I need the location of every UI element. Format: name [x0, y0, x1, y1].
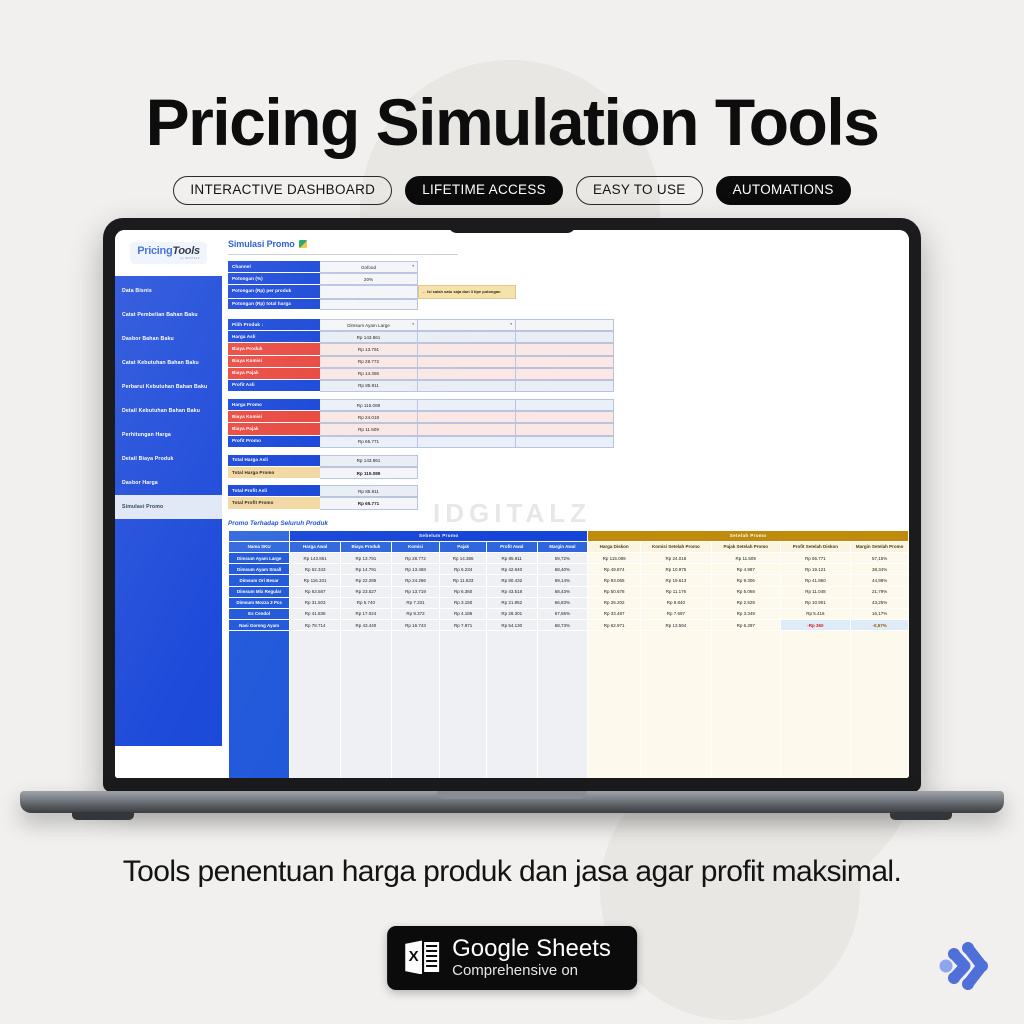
empty-cell-a — [418, 331, 516, 343]
row-label: Biaya Komisi — [228, 411, 320, 423]
badge-subtitle: Comprehensive on — [452, 963, 611, 979]
cell-before: Rp 42.640 — [486, 564, 537, 575]
cell-after: Rp 11.176 — [641, 586, 712, 597]
sheet-row: Profit PromoRp 65.771 — [228, 436, 909, 448]
row-label: Profit Promo — [228, 436, 320, 448]
laptop-foot-right — [890, 812, 952, 820]
sheet-row: Total Harga AsliRp 143.861 — [228, 455, 909, 467]
tagline: Tools penentuan harga produk dan jasa ag… — [0, 855, 1024, 889]
cell-before: Rp 62.343 — [290, 564, 341, 575]
row-label: Potongan (Rp) total harga — [228, 299, 320, 310]
spreadsheet-icon-x: X — [405, 940, 422, 974]
cell-after: Rp 11.048 — [780, 586, 851, 597]
cell-before: 66,83% — [537, 597, 588, 608]
cell-after: Rp 33.487 — [588, 608, 641, 619]
row-label: Biaya Pajak — [228, 368, 320, 380]
sidebar-item-perbarui-kebutuhan-bahan-baku[interactable]: Perbarui Kebutuhan Bahan Baku — [115, 375, 222, 399]
brand-corner-logo — [932, 930, 1004, 1002]
row-sku: Dimsum Mozza 3 Pcs — [229, 597, 290, 608]
feature-pill-2[interactable]: EASY TO USE — [576, 176, 703, 205]
sidebar-item-perhitungan-harga[interactable]: Perhitungan Harga — [115, 423, 222, 447]
brand-name-second: Tools — [172, 245, 199, 257]
empty-cell-b — [516, 399, 614, 411]
sheet-row: Biaya ProdukRp 13.791 — [228, 343, 909, 355]
product-picker-row: Pilih Produk ↓Dimsum Ayam Large▾▾ — [228, 319, 909, 331]
cell-after: -0,57% — [851, 620, 909, 631]
cell-before: Rp 6.360 — [440, 586, 487, 597]
empty-cell — [290, 631, 341, 778]
cell-before: Rp 80.432 — [486, 575, 537, 586]
col-header-1[interactable]: Harga Awal — [290, 541, 341, 552]
sidebar-item-data-bisnis[interactable]: Data Bisnis — [115, 279, 222, 303]
laptop-foot-left — [72, 812, 134, 820]
cell-before: Rp 41.836 — [290, 608, 341, 619]
cell-before: Rp 11.633 — [440, 575, 487, 586]
empty-cell-a — [418, 356, 516, 368]
empty-cell — [537, 631, 588, 778]
row-value: Rp 115.089 — [320, 399, 418, 411]
cell-after: Rp 65.771 — [780, 552, 851, 563]
promo-panel: Harga PromoRp 115.089Biaya KomisiRp 24.0… — [228, 399, 909, 448]
row-label: Total Harga Promo — [228, 467, 320, 479]
col-header-10[interactable]: Profit Setelah Diskon — [780, 541, 851, 552]
cell-after: Rp 5.068 — [711, 586, 780, 597]
cell-before: Rp 28.301 — [486, 608, 537, 619]
sheet-title-text: Simulasi Promo — [228, 239, 295, 249]
cell-before: Rp 143.861 — [290, 552, 341, 563]
spreadsheet-icon: X — [405, 938, 439, 976]
sidebar-item-dasbor-harga[interactable]: Dasbor Harga — [115, 471, 222, 495]
sidebar-item-catat-pembelian-bahan-baku[interactable]: Catat Pembelian Bahan Baku — [115, 303, 222, 327]
laptop-screen: IDGITALZ PricingTools by IDGITALZ Data B… — [115, 230, 909, 778]
header: Pricing Simulation Tools INTERACTIVE DAS… — [0, 0, 1024, 205]
empty-cell — [440, 631, 487, 778]
empty-cell-b — [516, 343, 614, 355]
row-label: Potongan (Rp) per produk — [228, 285, 320, 298]
empty-cell-a — [418, 368, 516, 380]
empty-cell-a — [418, 411, 516, 423]
input-panel: ChannelGofood▾Potongan (%)20%Potongan (R… — [228, 261, 909, 310]
cell-before: 69,14% — [537, 575, 588, 586]
feature-pill-0[interactable]: INTERACTIVE DASHBOARD — [173, 176, 392, 205]
table-header-row: Nama SKUHarga AwalBiaya ProdukKomisiPaja… — [229, 541, 909, 552]
row-label: Harga Promo — [228, 399, 320, 411]
totals-profit-panel: Total Profit AsliRp 85.911Total Profit P… — [228, 485, 909, 509]
sidebar-item-detail-biaya-produk[interactable]: Detail Biaya Produk — [115, 447, 222, 471]
row-label: Harga Asli — [228, 331, 320, 343]
table-row: Es CendolRp 41.836Rp 17.024Rp 9.372Rp 4.… — [229, 608, 909, 619]
cell-before: Rp 6.234 — [440, 564, 487, 575]
cell-before: Rp 5.740 — [340, 597, 391, 608]
cell-before: Rp 13.791 — [340, 552, 391, 563]
empty-cell-b — [516, 436, 614, 448]
row-label: Biaya Komisi — [228, 356, 320, 368]
product-panel: Pilih Produk ↓Dimsum Ayam Large▾▾Harga A… — [228, 319, 909, 392]
cell-after: Rp 13.594 — [641, 620, 712, 631]
sheet-row: Total Profit AsliRp 85.911 — [228, 485, 909, 497]
cell-before: Rp 23.527 — [340, 586, 391, 597]
feature-pill-1[interactable]: LIFETIME ACCESS — [405, 176, 563, 205]
product-picker-select-2[interactable]: ▾ — [418, 319, 516, 331]
sheet-row: Potongan (%)20% — [228, 273, 909, 285]
empty-cell-b — [516, 368, 614, 380]
row-sku: Dimsum Ayam Large — [229, 552, 290, 563]
cell-before: Rp 14.386 — [440, 552, 487, 563]
col-header-0[interactable]: Nama SKU — [229, 541, 290, 552]
cell-after: Rp 5.416 — [780, 608, 851, 619]
row-value: Rp 28.772 — [320, 356, 418, 368]
sheet-row: Harga PromoRp 115.089 — [228, 399, 909, 411]
cell-before: Rp 85.911 — [486, 552, 537, 563]
cell-after: Rp 2.529 — [711, 597, 780, 608]
spreadsheet-app: IDGITALZ PricingTools by IDGITALZ Data B… — [115, 230, 909, 778]
row-value: Rp 24.018 — [320, 411, 418, 423]
empty-cell — [391, 631, 440, 778]
cell-before: Rp 13.468 — [391, 564, 440, 575]
cell-before: Rp 14.791 — [340, 564, 391, 575]
chevron-down-icon: ▾ — [412, 322, 414, 326]
cell-after: Rp 3.349 — [711, 608, 780, 619]
cell-before: Rp 3.150 — [440, 597, 487, 608]
sheet-row: Harga AsliRp 143.861 — [228, 331, 909, 343]
empty-cell-b — [516, 423, 614, 435]
sheet-row: Biaya KomisiRp 24.018 — [228, 411, 909, 423]
cell-before: Rp 22.285 — [340, 575, 391, 586]
cell-after: 38,34% — [851, 564, 909, 575]
sidebar-item-detail-kebutuhan-bahan-baku[interactable]: Detail Kebutuhan Bahan Baku — [115, 399, 222, 423]
chevron-down-icon: ▾ — [510, 322, 512, 326]
cell-after: Rp 19.121 — [780, 564, 851, 575]
sheet-icon — [299, 240, 307, 248]
cell-after: Rp 10.901 — [780, 597, 851, 608]
cell-after: Rp 4.987 — [711, 564, 780, 575]
cell-before: Rp 43.518 — [486, 586, 537, 597]
sheet-row: ChannelGofood▾ — [228, 261, 909, 273]
cell-after: Rp 19.613 — [641, 575, 712, 586]
row-value: Rp 143.861 — [320, 455, 418, 467]
laptop-base-wrap — [0, 791, 1024, 813]
table-row: Nasi Goreng AyamRp 78.714Rp 43.440Rp 16.… — [229, 620, 909, 631]
row-label: Channel — [228, 261, 320, 273]
row-value: Rp 11.509 — [320, 423, 418, 435]
col-header-4[interactable]: Pajak — [440, 541, 487, 552]
table-group-header-row: Sebelum PromoSetelah Promo — [229, 530, 909, 541]
col-header-5[interactable]: Profit Awal — [486, 541, 537, 552]
table-filler-row — [229, 631, 909, 778]
row-value: Rp 65.771 — [320, 436, 418, 448]
empty-cell-a — [418, 423, 516, 435]
row-value: Rp 143.861 — [320, 331, 418, 343]
empty-cell — [780, 631, 851, 778]
empty-cell — [711, 631, 780, 778]
cell-after: Rp 62.971 — [588, 620, 641, 631]
cell-after: 16,17% — [851, 608, 909, 619]
feature-pill-row: INTERACTIVE DASHBOARDLIFETIME ACCESSEASY… — [0, 176, 1024, 205]
empty-cell-a — [418, 436, 516, 448]
empty-cell-b — [516, 411, 614, 423]
cell-before: Rp 31.503 — [290, 597, 341, 608]
app-sidebar: PricingTools by IDGITALZ Data BisnisCata… — [115, 230, 222, 778]
row-value[interactable]: 20% — [320, 273, 418, 285]
cell-before: Rp 43.440 — [340, 620, 391, 631]
group-after-promo: Setelah Promo — [588, 530, 909, 541]
cell-before: 68,43% — [537, 586, 588, 597]
row-sku: Dimsum Mix Regular — [229, 586, 290, 597]
row-label: Biaya Produk — [228, 343, 320, 355]
laptop-notch — [448, 218, 576, 233]
row-label: Potongan (%) — [228, 273, 320, 285]
group-spacer — [229, 530, 290, 541]
row-sku: Dimsum Ori Besar — [229, 575, 290, 586]
cell-after: Rp 49.874 — [588, 564, 641, 575]
cell-after: 44,98% — [851, 575, 909, 586]
feature-pill-3[interactable]: AUTOMATIONS — [716, 176, 851, 205]
empty-cell-a — [418, 399, 516, 411]
row-sku: Es Cendol — [229, 608, 290, 619]
title-divider — [228, 254, 458, 255]
empty-cell — [588, 631, 641, 778]
cell-after: Rp 6.297 — [711, 620, 780, 631]
col-header-3[interactable]: Komisi — [391, 541, 440, 552]
cell-after: -Rp 360 — [780, 620, 851, 631]
chevron-down-icon: ▾ — [412, 264, 414, 268]
cell-after: Rp 115.089 — [588, 552, 641, 563]
row-label: Biaya Pajak — [228, 423, 320, 435]
cell-after: 43,25% — [851, 597, 909, 608]
sheet-row: Profit AsliRp 85.911 — [228, 380, 909, 392]
sheet-row: Biaya PajakRp 11.509 — [228, 423, 909, 435]
laptop-base-notch — [437, 791, 587, 799]
cell-after: Rp 50.678 — [588, 586, 641, 597]
row-value[interactable] — [320, 285, 418, 298]
cell-before: Rp 21.852 — [486, 597, 537, 608]
input-hint-note: ← Isi salah satu saja dari 3 tipe potong… — [418, 285, 516, 298]
col-header-9[interactable]: Pajak Setelah Promo — [711, 541, 780, 552]
page-title: Pricing Simulation Tools — [0, 84, 1024, 160]
row-value: Rp 14.386 — [320, 368, 418, 380]
empty-cell-a — [418, 380, 516, 392]
row-value: Rp 115.089 — [320, 467, 418, 479]
brand-tagline: by IDGITALZ — [137, 258, 200, 261]
product-picker-label: Pilih Produk ↓ — [228, 319, 320, 331]
empty-cell-b — [516, 331, 614, 343]
col-header-2[interactable]: Biaya Produk — [340, 541, 391, 552]
row-label: Total Profit Promo — [228, 497, 320, 509]
empty-cell-b — [516, 356, 614, 368]
table-title: Promo Terhadap Seluruh Produk — [228, 520, 909, 527]
row-label: Profit Asli — [228, 380, 320, 392]
totals-price-panel: Total Harga AsliRp 143.861Total Harga Pr… — [228, 455, 909, 479]
cell-before: Rp 28.772 — [391, 552, 440, 563]
laptop-base — [20, 791, 1004, 813]
row-value: Rp 85.911 — [320, 380, 418, 392]
cell-before: Rp 24.266 — [391, 575, 440, 586]
col-header-8[interactable]: Komisi Setelah Promo — [641, 541, 712, 552]
product-picker-select-3[interactable] — [516, 319, 614, 331]
sidebar-item-catat-kebutuhan-bahan-baku[interactable]: Catat Kebutuhan Bahan Baku — [115, 351, 222, 375]
table-row: Dimsum Ayam SmallRp 62.343Rp 14.791Rp 13… — [229, 564, 909, 575]
cell-after: Rp 11.509 — [711, 552, 780, 563]
row-value: Rp 65.771 — [320, 497, 418, 509]
empty-cell — [851, 631, 909, 778]
empty-cell — [486, 631, 537, 778]
brand-logo: PricingTools by IDGITALZ — [115, 230, 222, 276]
group-before-promo: Sebelum Promo — [290, 530, 588, 541]
cell-before: 68,73% — [537, 620, 588, 631]
badge-text: Google Sheets Comprehensive on — [452, 936, 611, 979]
cell-before: Rp 116.331 — [290, 575, 341, 586]
google-sheets-badge: X Google Sheets Comprehensive on — [387, 926, 637, 990]
laptop-lid: IDGITALZ PricingTools by IDGITALZ Data B… — [103, 218, 921, 792]
cell-before: Rp 17.024 — [340, 608, 391, 619]
row-sku: Nasi Goreng Ayam — [229, 620, 290, 631]
cell-after: Rp 24.018 — [641, 552, 712, 563]
sheet-row: Potongan (Rp) total harga — [228, 299, 909, 310]
cell-after: Rp 9.306 — [711, 575, 780, 586]
brand-logo-box: PricingTools by IDGITALZ — [130, 242, 207, 265]
row-label: Total Profit Asli — [228, 485, 320, 497]
row-value: Rp 13.791 — [320, 343, 418, 355]
cell-after: 21,79% — [851, 586, 909, 597]
cell-after: Rp 7.697 — [641, 608, 712, 619]
cell-after: Rp 25.202 — [588, 597, 641, 608]
cell-after: Rp 10.975 — [641, 564, 712, 575]
col-header-6[interactable]: Margin Awal — [537, 541, 588, 552]
empty-cell — [229, 631, 290, 778]
cell-before: Rp 63.587 — [290, 586, 341, 597]
row-value[interactable]: Gofood▾ — [320, 261, 418, 273]
sidebar-item-simulasi-promo[interactable]: Simulasi Promo — [115, 495, 222, 519]
cell-before: Rp 7.331 — [391, 597, 440, 608]
table-row: Dimsum Mix RegularRp 63.587Rp 23.527Rp 1… — [229, 586, 909, 597]
empty-cell — [641, 631, 712, 778]
cell-after: Rp 41.860 — [780, 575, 851, 586]
products-table: Sebelum PromoSetelah PromoNama SKUHarga … — [228, 530, 909, 778]
sheet-row: Biaya KomisiRp 28.772 — [228, 356, 909, 368]
cell-after: 57,15% — [851, 552, 909, 563]
spreadsheet-icon-grid — [424, 942, 439, 972]
row-label: Total Harga Asli — [228, 455, 320, 467]
table-row: Dimsum Ayam LargeRp 143.861Rp 13.791Rp 2… — [229, 552, 909, 563]
cell-before: Rp 78.714 — [290, 620, 341, 631]
sidebar-nav: Data BisnisCatat Pembelian Bahan BakuDas… — [115, 276, 222, 746]
sheet-content: Simulasi Promo ChannelGofood▾Potongan (%… — [222, 230, 909, 778]
row-sku: Dimsum Ayam Small — [229, 564, 290, 575]
sheet-row: Potongan (Rp) per produk← Isi salah satu… — [228, 285, 909, 298]
row-value: Rp 85.911 — [320, 485, 418, 497]
cell-before: 67,65% — [537, 608, 588, 619]
cell-before: Rp 16.743 — [391, 620, 440, 631]
sheet-title-row: Simulasi Promo — [222, 230, 909, 254]
sidebar-item-dasbor-bahan-baku[interactable]: Dasbor Bahan Baku — [115, 327, 222, 351]
table-row: Dimsum Mozza 3 PcsRp 31.503Rp 5.740Rp 7.… — [229, 597, 909, 608]
sheet-row: Biaya PajakRp 14.386 — [228, 368, 909, 380]
empty-cell-b — [516, 380, 614, 392]
cell-before: Rp 7.871 — [440, 620, 487, 631]
cell-after: Rp 93.065 — [588, 575, 641, 586]
table-row: Dimsum Ori BesarRp 116.331Rp 22.285Rp 24… — [229, 575, 909, 586]
cell-before: Rp 9.372 — [391, 608, 440, 619]
brand-name-first: Pricing — [137, 245, 172, 257]
product-picker-select[interactable]: Dimsum Ayam Large▾ — [320, 319, 418, 331]
col-header-7[interactable]: Harga Diskon — [588, 541, 641, 552]
empty-cell — [340, 631, 391, 778]
row-value[interactable] — [320, 299, 418, 310]
laptop-mockup: IDGITALZ PricingTools by IDGITALZ Data B… — [0, 218, 1024, 813]
empty-cell-a — [418, 343, 516, 355]
cell-before: Rp 13.719 — [391, 586, 440, 597]
cell-after: Rp 8.840 — [641, 597, 712, 608]
badge-title: Google Sheets — [452, 936, 611, 961]
cell-before: Rp 4.186 — [440, 608, 487, 619]
cell-before: Rp 54.130 — [486, 620, 537, 631]
cell-before: 59,72% — [537, 552, 588, 563]
cell-before: 68,40% — [537, 564, 588, 575]
col-header-11[interactable]: Margin Setelah Promo — [851, 541, 909, 552]
sheet-row: Total Profit PromoRp 65.771 — [228, 497, 909, 509]
sheet-row: Total Harga PromoRp 115.089 — [228, 467, 909, 479]
